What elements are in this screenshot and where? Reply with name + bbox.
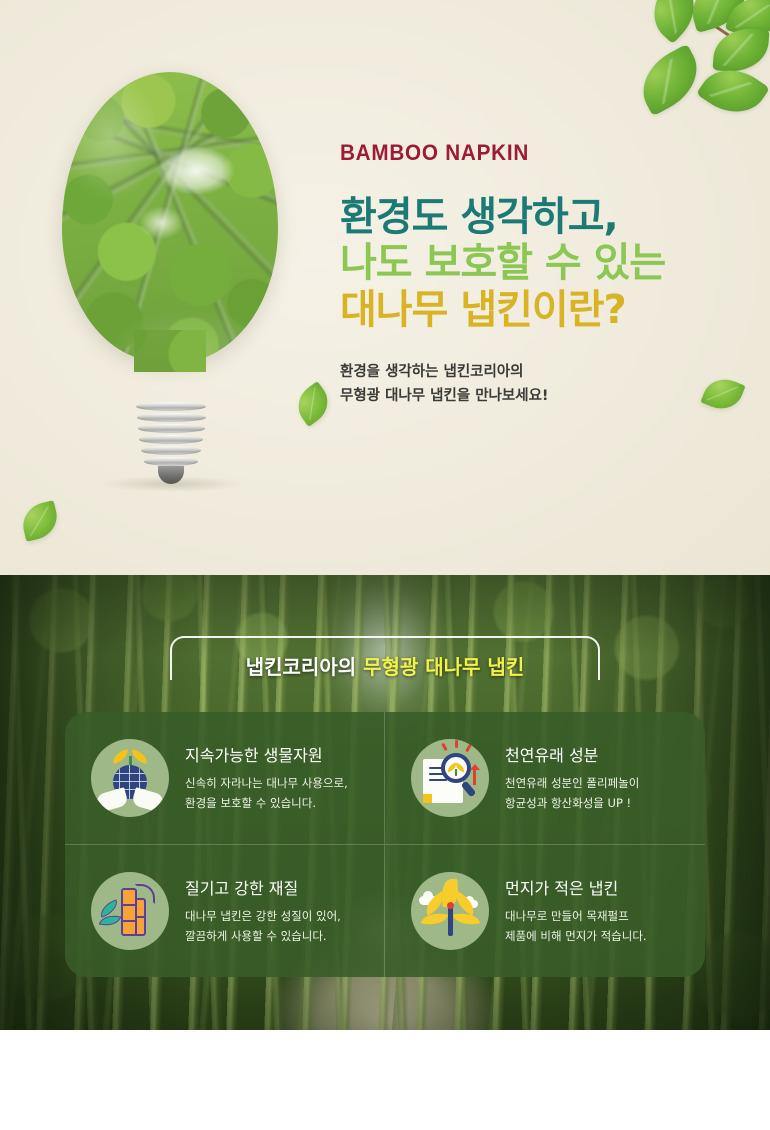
feature-title: 천연유래 성분	[505, 742, 639, 766]
leaf-icon	[713, 26, 770, 74]
bamboo-canopy-fill	[62, 72, 278, 362]
screw-thread	[137, 413, 206, 422]
feature-title: 질기고 강한 재질	[185, 875, 341, 899]
feature-desc-line-2: 깔끔하게 사용할 수 있습니다.	[185, 926, 341, 946]
sparkle-mark	[441, 743, 447, 751]
feature-desc-line-1: 대나무로 만들어 목재펄프	[505, 906, 647, 926]
globe-gridline	[129, 765, 130, 799]
headline-line-3: 대나무 냅킨이란?	[340, 287, 740, 333]
sprout-leaf-left	[111, 749, 130, 764]
lightbulb-neck-fill	[134, 330, 206, 372]
feature-desc-line-2: 제품에 비해 먼지가 적습니다.	[505, 926, 647, 946]
feature-desc-line-2: 환경을 보호할 수 있습니다.	[185, 793, 348, 813]
section-heading: 냅킨코리아의 무형광 대나무 냅킨	[170, 636, 600, 682]
hero-section: BAMBOO NAPKIN 환경도 생각하고, 나도 보호할 수 있는 대나무 …	[0, 0, 770, 575]
feature-text: 천연유래 성분 천연유래 성분인 폴리페놀이 항균성과 항산화성을 UP !	[505, 742, 639, 814]
accent-dot	[447, 902, 454, 909]
leafy-branch-decoration	[618, 0, 770, 136]
bamboo-node	[121, 904, 137, 907]
bamboo-lightbulb-image	[50, 72, 290, 492]
feature-card-natural-ingredient: 천연유래 성분 천연유래 성분인 폴리페놀이 항균성과 항산화성을 UP !	[385, 712, 705, 845]
section-heading-yellow: 무형광 대나무 냅킨	[363, 655, 524, 679]
feature-text: 지속가능한 생물자원 신속히 자라나는 대나무 사용으로, 환경을 보호할 수 …	[185, 742, 348, 814]
sparkle-mark	[455, 740, 458, 748]
hero-subtitle-line-1: 환경을 생각하는 냅킨코리아의	[340, 361, 740, 384]
headline-line-1: 환경도 생각하고,	[340, 194, 740, 240]
screw-thread	[139, 435, 203, 444]
headline-line-2: 나도 보호할 수 있는	[340, 240, 740, 286]
hero-eyebrow: BAMBOO NAPKIN	[340, 140, 716, 166]
document-dogear	[423, 794, 432, 803]
feature-desc-line-1: 신속히 자라나는 대나무 사용으로,	[185, 773, 348, 793]
feature-title: 먼지가 적은 냅킨	[505, 875, 647, 899]
feature-desc-line-1: 대나무 냅킨은 강한 성질이 있어,	[185, 906, 341, 926]
up-arrow-icon	[473, 769, 476, 785]
sprout-stem	[455, 769, 457, 776]
section-heading-white: 냅킨코리아의	[246, 655, 356, 679]
hero-headline: 환경도 생각하고, 나도 보호할 수 있는 대나무 냅킨이란?	[340, 194, 740, 333]
feature-desc-line-1: 천연유래 성분인 폴리페놀이	[505, 773, 639, 793]
bamboo-stalk-front	[121, 888, 137, 936]
plant-clouds-icon	[411, 872, 489, 950]
section-heading-text: 냅킨코리아의 무형광 대나무 냅킨	[246, 651, 525, 682]
hero-copy: BAMBOO NAPKIN 환경도 생각하고, 나도 보호할 수 있는 대나무 …	[340, 140, 740, 408]
lightbulb-globe	[62, 72, 278, 362]
lightbulb-shadow	[102, 476, 242, 492]
feature-card-strong-material: 질기고 강한 재질 대나무 냅킨은 강한 성질이 있어, 깔끔하게 사용할 수 …	[65, 845, 385, 978]
features-panel: 지속가능한 생물자원 신속히 자라나는 대나무 사용으로, 환경을 보호할 수 …	[65, 712, 705, 977]
feature-card-low-dust: 먼지가 적은 냅킨 대나무로 만들어 목재펄프 제품에 비해 먼지가 적습니다.	[385, 845, 705, 978]
feature-text: 먼지가 적은 냅킨 대나무로 만들어 목재펄프 제품에 비해 먼지가 적습니다.	[505, 875, 647, 947]
screw-thread	[138, 424, 205, 433]
leaf-icon	[421, 909, 448, 928]
feature-text: 질기고 강한 재질 대나무 냅킨은 강한 성질이 있어, 깔끔하게 사용할 수 …	[185, 875, 341, 947]
promo-page: BAMBOO NAPKIN 환경도 생각하고, 나도 보호할 수 있는 대나무 …	[0, 0, 770, 1130]
globe-in-hands-sprout-icon	[91, 739, 169, 817]
bamboo-canopy-fill-neck	[134, 330, 206, 372]
hero-subtitle-line-2: 무형광 대나무 냅킨을 만나보세요!	[340, 385, 740, 408]
bamboo-node	[121, 920, 137, 923]
hero-subtitle: 환경을 생각하는 냅킨코리아의 무형광 대나무 냅킨을 만나보세요!	[340, 361, 740, 408]
plant-stem	[448, 906, 453, 936]
screw-thread	[144, 457, 198, 466]
bamboo-stalk-leaves-icon	[91, 872, 169, 950]
hand-right	[131, 787, 165, 813]
feature-title: 지속가능한 생물자원	[185, 742, 348, 766]
screw-thread	[136, 402, 206, 411]
hand-left	[95, 787, 129, 813]
screw-thread	[141, 446, 201, 455]
sprout-leaf-right	[130, 749, 149, 764]
sparkle-mark	[465, 744, 471, 752]
document-line	[429, 779, 447, 782]
magnifier-lens	[441, 753, 471, 783]
lightbulb-screw-base	[136, 402, 206, 484]
feature-desc-line-2: 항균성과 항산화성을 UP !	[505, 793, 639, 813]
leaf-icon	[97, 899, 120, 918]
magnifier-document-sprout-icon	[411, 739, 489, 817]
leaf-icon	[630, 44, 709, 116]
feature-card-sustainable-resource: 지속가능한 생물자원 신속히 자라나는 대나무 사용으로, 환경을 보호할 수 …	[65, 712, 385, 845]
